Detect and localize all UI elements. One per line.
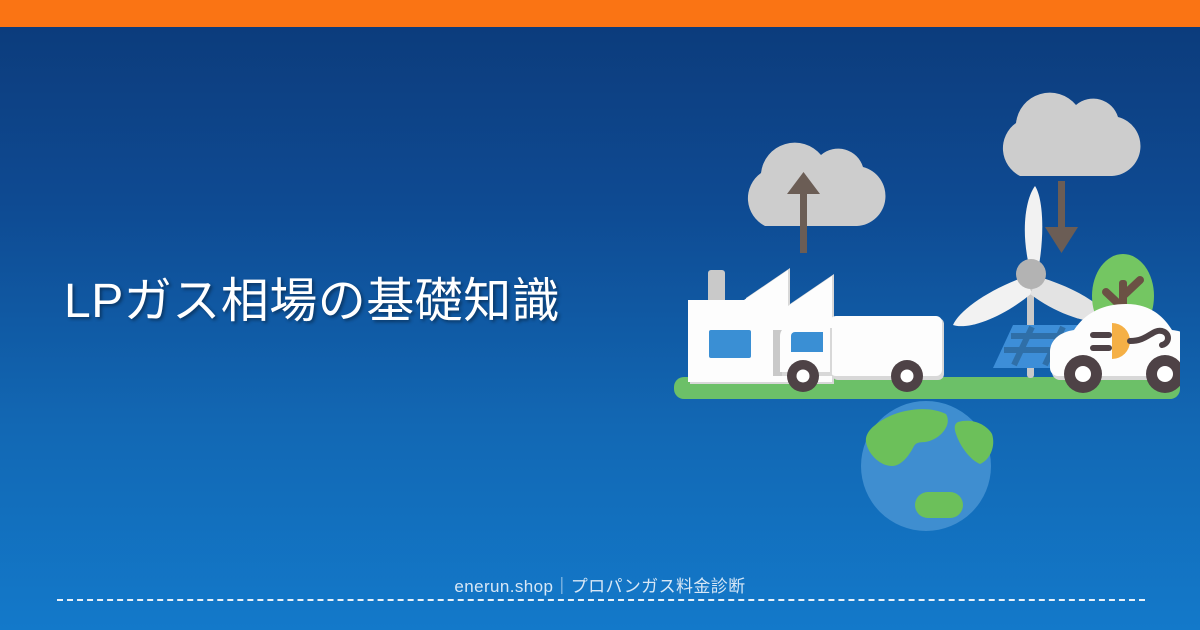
factory-window [709, 330, 751, 358]
earth-globe-icon [861, 401, 993, 531]
page-title: LPガス相場の基礎知識 [64, 276, 560, 328]
cloud-up-arrow-icon [748, 143, 886, 253]
slide-canvas: LPガス相場の基礎知識 [0, 0, 1200, 630]
footer-branding: enerun.shop｜プロパンガス料金診断 [0, 572, 1200, 597]
top-accent-bar [0, 0, 1200, 27]
electric-car-icon [1050, 304, 1180, 393]
cloud-down-arrow-icon [1003, 93, 1141, 253]
eco-energy-illustration [660, 80, 1180, 550]
footer-divider [57, 599, 1145, 601]
